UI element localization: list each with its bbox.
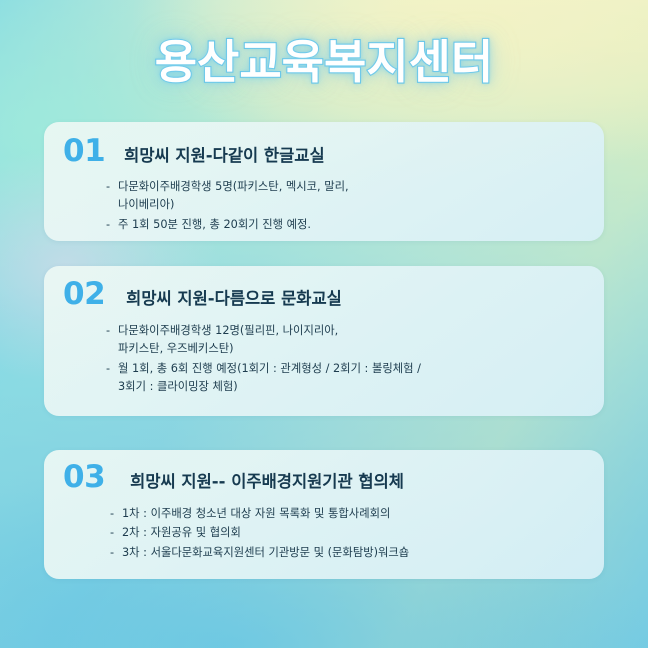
list-item: - 2차 : 자원공유 및 협의회 — [110, 524, 604, 542]
bullet-text: 주 1회 50분 진행, 총 20회기 진행 예정. — [118, 216, 423, 234]
card-title-02: 희망씨 지원-다름으로 문화교실 — [126, 291, 342, 308]
bullet-dash-icon: - — [110, 505, 122, 523]
list-item: - 다문화이주배경학생 12명(필리핀, 나이지리아, 파키스탄, 우즈베키스탄… — [106, 322, 604, 359]
bullet-dash-icon: - — [106, 360, 118, 378]
card-bullet-list-01: - 다문화이주배경학생 5명(파키스탄, 멕시코, 말리, 나이베리아) - 주… — [106, 178, 604, 235]
card-title-03: 희망씨 지원-- 이주배경지원기관 협의체 — [130, 474, 404, 491]
list-item: - 1차 : 이주배경 청소년 대상 자원 목록화 및 통합사례회의 — [110, 505, 604, 523]
list-item: - 주 1회 50분 진행, 총 20회기 진행 예정. — [106, 216, 604, 234]
bullet-dash-icon: - — [110, 544, 122, 562]
poster-header: 용산교육복지센터 — [0, 0, 648, 118]
program-card-02: 02 희망씨 지원-다름으로 문화교실 - 다문화이주배경학생 12명(필리핀,… — [44, 266, 604, 416]
bullet-text: 1차 : 이주배경 청소년 대상 자원 목록화 및 통합사례회의 — [122, 505, 482, 523]
list-item: - 3차 : 서울다문화교육지원센터 기관방문 및 (문화탐방)워크숍 — [110, 544, 604, 562]
card-number-03: 03 — [63, 462, 105, 493]
card-title-01: 희망씨 지원-다같이 한글교실 — [124, 148, 325, 165]
list-item: - 다문화이주배경학생 5명(파키스탄, 멕시코, 말리, 나이베리아) — [106, 178, 604, 215]
bullet-dash-icon: - — [110, 524, 122, 542]
poster-root: 용산교육복지센터 01 희망씨 지원-다같이 한글교실 - 다문화이주배경학생 … — [0, 0, 648, 648]
bullet-text: 다문화이주배경학생 12명(필리핀, 나이지리아, 파키스탄, 우즈베키스탄) — [118, 322, 478, 359]
bullet-text: 3차 : 서울다문화교육지원센터 기관방문 및 (문화탐방)워크숍 — [122, 544, 482, 562]
list-item: - 월 1회, 총 6회 진행 예정(1회기 : 관계형성 / 2회기 : 볼링… — [106, 360, 604, 397]
bullet-text: 월 1회, 총 6회 진행 예정(1회기 : 관계형성 / 2회기 : 볼링체험… — [118, 360, 478, 397]
card-bullet-list-03: - 1차 : 이주배경 청소년 대상 자원 목록화 및 통합사례회의 - 2차 … — [110, 505, 604, 563]
program-card-01: 01 희망씨 지원-다같이 한글교실 - 다문화이주배경학생 5명(파키스탄, … — [44, 122, 604, 241]
bullet-text: 다문화이주배경학생 5명(파키스탄, 멕시코, 말리, 나이베리아) — [118, 178, 423, 215]
card-bullet-list-02: - 다문화이주배경학생 12명(필리핀, 나이지리아, 파키스탄, 우즈베키스탄… — [106, 322, 604, 397]
bullet-dash-icon: - — [106, 178, 118, 196]
program-card-03: 03 희망씨 지원-- 이주배경지원기관 협의체 - 1차 : 이주배경 청소년… — [44, 450, 604, 579]
card-header-01: 01 희망씨 지원-다같이 한글교실 — [63, 136, 325, 167]
bullet-text: 2차 : 자원공유 및 협의회 — [122, 524, 482, 542]
card-header-02: 02 희망씨 지원-다름으로 문화교실 — [63, 279, 342, 310]
card-number-01: 01 — [63, 136, 105, 167]
bullet-dash-icon: - — [106, 322, 118, 340]
bullet-dash-icon: - — [106, 216, 118, 234]
card-number-02: 02 — [63, 279, 105, 310]
card-header-03: 03 희망씨 지원-- 이주배경지원기관 협의체 — [63, 462, 404, 493]
page-title: 용산교육복지센터 — [155, 26, 494, 92]
